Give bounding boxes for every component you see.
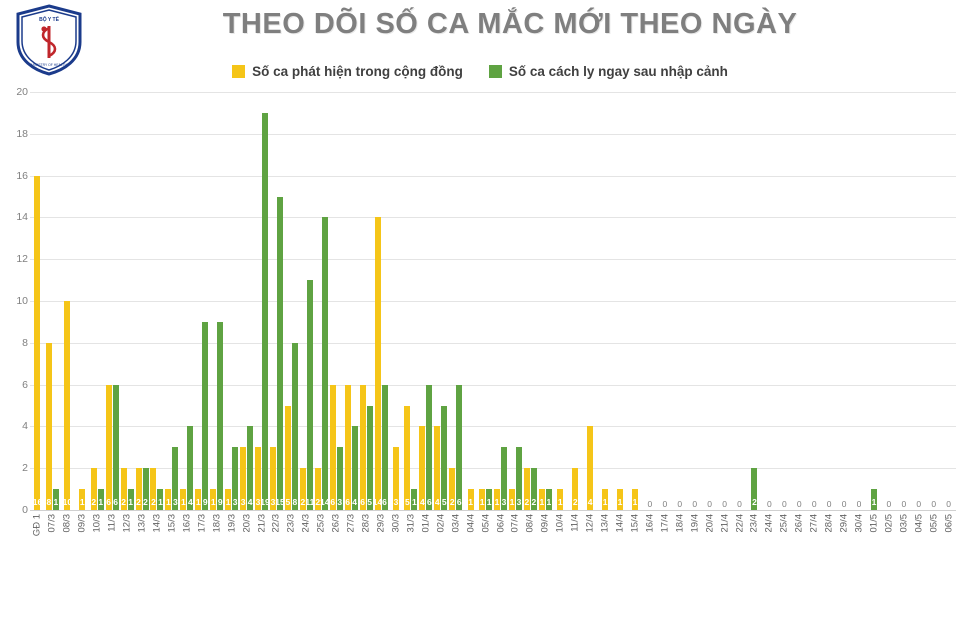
x-tick-wrapper: 12/4 bbox=[583, 512, 598, 632]
bar-group[interactable]: 0 bbox=[941, 92, 956, 510]
bar-community[interactable]: 2 bbox=[449, 468, 455, 510]
x-tick-label: 10/4 bbox=[555, 514, 566, 533]
bar-community[interactable]: 3 bbox=[393, 447, 399, 510]
bar-value-label: 4 bbox=[588, 498, 593, 507]
bar-community[interactable]: 2 bbox=[150, 468, 156, 510]
x-tick-wrapper: 27/3 bbox=[344, 512, 359, 632]
bar-group[interactable]: 0 bbox=[792, 92, 807, 510]
bar-value-label: 9 bbox=[218, 498, 223, 507]
bar-value-label: 2 bbox=[752, 498, 757, 507]
bar-community[interactable]: 2 bbox=[121, 468, 127, 510]
y-tick-label: 14 bbox=[0, 211, 28, 223]
bar-group[interactable]: 13 bbox=[508, 92, 523, 510]
x-tick-label: GĐ 1 bbox=[32, 514, 43, 536]
x-tick-wrapper: 08/3 bbox=[60, 512, 75, 632]
bar-community[interactable]: 14 bbox=[375, 217, 381, 510]
bar-value-label: 0 bbox=[901, 500, 906, 509]
x-tick-label: 11/3 bbox=[107, 514, 118, 532]
bar-community[interactable]: 1 bbox=[494, 489, 500, 510]
x-tick-label: 28/4 bbox=[824, 514, 835, 533]
bar-group[interactable]: 0 bbox=[852, 92, 867, 510]
x-tick-wrapper: 28/3 bbox=[359, 512, 374, 632]
page-title: THEO DÕI SỐ CA MẮC MỚI THEO NGÀY bbox=[120, 8, 900, 41]
bar-group[interactable]: 14 bbox=[179, 92, 194, 510]
bar-value-label: 9 bbox=[203, 498, 208, 507]
x-tick-wrapper: 29/4 bbox=[837, 512, 852, 632]
bar-value-label: 5 bbox=[405, 498, 410, 507]
x-tick-label: 15/3 bbox=[166, 514, 177, 533]
x-tick-label: 28/3 bbox=[361, 514, 372, 533]
bar-group[interactable]: 0 bbox=[822, 92, 837, 510]
x-tick-wrapper: 11/3 bbox=[105, 512, 120, 632]
x-tick-wrapper: 06/5 bbox=[941, 512, 956, 632]
bar-group[interactable]: 0 bbox=[911, 92, 926, 510]
x-tick-wrapper: 01/4 bbox=[418, 512, 433, 632]
chart-bars: 1681101216621222113141919133431931558211… bbox=[30, 92, 956, 510]
bar-group[interactable]: 34 bbox=[239, 92, 254, 510]
bar-group[interactable]: 22 bbox=[135, 92, 150, 510]
legend-label-community: Số ca phát hiện trong cộng đồng bbox=[252, 64, 463, 79]
bar-group[interactable]: 0 bbox=[926, 92, 941, 510]
bar-community[interactable]: 2 bbox=[136, 468, 142, 510]
x-tick-label: 21/3 bbox=[256, 514, 267, 533]
x-tick-label: 14/3 bbox=[151, 514, 162, 533]
bar-quarantine[interactable]: 9 bbox=[202, 322, 208, 510]
x-tick-wrapper: 09/3 bbox=[75, 512, 90, 632]
x-tick-label: 17/4 bbox=[659, 514, 670, 533]
bar-value-label: 2 bbox=[91, 498, 96, 507]
bar-group[interactable]: 0 bbox=[896, 92, 911, 510]
x-tick-label: 30/4 bbox=[854, 514, 865, 533]
bar-value-label: 4 bbox=[188, 498, 193, 507]
x-tick-label: 02/4 bbox=[435, 514, 446, 533]
x-tick-wrapper: 04/5 bbox=[911, 512, 926, 632]
x-tick-label: 20/3 bbox=[241, 514, 252, 533]
x-tick-wrapper: 15/3 bbox=[164, 512, 179, 632]
x-tick-label: 17/3 bbox=[196, 514, 207, 533]
x-tick-label: 06/4 bbox=[495, 514, 506, 533]
y-tick-label: 4 bbox=[0, 420, 28, 432]
x-tick-label: 16/4 bbox=[644, 514, 655, 533]
bar-group[interactable]: 64 bbox=[344, 92, 359, 510]
bar-value-label: 6 bbox=[382, 498, 387, 507]
x-tick-wrapper: 17/3 bbox=[194, 512, 209, 632]
bar-community[interactable]: 1 bbox=[509, 489, 515, 510]
bar-value-label: 3 bbox=[241, 498, 246, 507]
bar-community[interactable]: 1 bbox=[539, 489, 545, 510]
bar-community[interactable]: 6 bbox=[360, 385, 366, 510]
bar-value-label: 0 bbox=[887, 500, 892, 509]
bar-group[interactable]: 66 bbox=[105, 92, 120, 510]
bar-value-label: 1 bbox=[539, 498, 544, 507]
x-tick-wrapper: 22/4 bbox=[732, 512, 747, 632]
bar-community[interactable]: 1 bbox=[165, 489, 171, 510]
bar-community[interactable]: 6 bbox=[345, 385, 351, 510]
x-tick-label: 07/3 bbox=[47, 514, 58, 533]
bar-community[interactable]: 1 bbox=[617, 489, 623, 510]
x-tick-wrapper: 26/3 bbox=[329, 512, 344, 632]
x-tick-label: 22/4 bbox=[734, 514, 745, 533]
bar-group[interactable]: 19 bbox=[194, 92, 209, 510]
x-tick-wrapper: 23/3 bbox=[284, 512, 299, 632]
bar-value-label: 0 bbox=[782, 500, 787, 509]
bar-quarantine[interactable]: 3 bbox=[337, 447, 343, 510]
bar-value-label: 0 bbox=[662, 500, 667, 509]
bar-group[interactable]: 1 bbox=[867, 92, 882, 510]
bar-group[interactable]: 1 bbox=[628, 92, 643, 510]
x-tick-wrapper: 24/3 bbox=[299, 512, 314, 632]
bar-community[interactable]: 1 bbox=[180, 489, 186, 510]
x-tick-label: 08/3 bbox=[62, 514, 73, 533]
bar-group[interactable]: 21 bbox=[150, 92, 165, 510]
y-tick-label: 18 bbox=[0, 128, 28, 140]
x-tick-label: 10/3 bbox=[92, 514, 103, 533]
bar-value-label: 0 bbox=[857, 500, 862, 509]
x-tick-wrapper: 21/3 bbox=[254, 512, 269, 632]
bar-group[interactable]: 46 bbox=[418, 92, 433, 510]
bar-quarantine[interactable]: 1 bbox=[128, 489, 134, 510]
x-tick-wrapper: 16/3 bbox=[179, 512, 194, 632]
bar-value-label: 2 bbox=[121, 498, 126, 507]
bar-community[interactable]: 2 bbox=[572, 468, 578, 510]
x-tick-wrapper: GĐ 1 bbox=[30, 512, 45, 632]
x-tick-wrapper: 20/4 bbox=[702, 512, 717, 632]
x-tick-wrapper: 15/4 bbox=[628, 512, 643, 632]
bar-quarantine[interactable]: 2 bbox=[751, 468, 757, 510]
x-tick-wrapper: 19/3 bbox=[224, 512, 239, 632]
x-tick-wrapper: 05/4 bbox=[478, 512, 493, 632]
page-header: BỘ Y TẾ MINISTRY OF HEALTH THEO DÕI SỐ C… bbox=[0, 0, 960, 60]
bar-value-label: 1 bbox=[618, 498, 623, 507]
bar-quarantine[interactable]: 1 bbox=[546, 489, 552, 510]
bar-group[interactable]: 21 bbox=[90, 92, 105, 510]
bar-value-label: 1 bbox=[633, 498, 638, 507]
bar-value-label: 6 bbox=[345, 498, 350, 507]
legend-item-community: Số ca phát hiện trong cộng đồng bbox=[232, 64, 463, 79]
x-tick-wrapper: 03/4 bbox=[448, 512, 463, 632]
x-tick-label: 12/3 bbox=[122, 514, 133, 533]
bar-group[interactable]: 2 bbox=[568, 92, 583, 510]
bar-value-label: 1 bbox=[211, 498, 216, 507]
x-tick-label: 25/3 bbox=[316, 514, 327, 533]
bar-quarantine[interactable]: 3 bbox=[172, 447, 178, 510]
bar-value-label: 2 bbox=[450, 498, 455, 507]
bar-quarantine[interactable]: 6 bbox=[426, 385, 432, 510]
bar-group[interactable]: 81 bbox=[45, 92, 60, 510]
bar-value-label: 6 bbox=[360, 498, 365, 507]
bar-group[interactable]: 1 bbox=[463, 92, 478, 510]
x-tick-label: 08/4 bbox=[525, 514, 536, 533]
x-tick-wrapper: 18/3 bbox=[209, 512, 224, 632]
x-tick-wrapper: 23/4 bbox=[747, 512, 762, 632]
bar-value-label: 1 bbox=[546, 498, 551, 507]
x-tick-label: 27/3 bbox=[346, 514, 357, 533]
bar-group[interactable]: 21 bbox=[120, 92, 135, 510]
bar-value-label: 16 bbox=[33, 498, 42, 507]
bar-group[interactable]: 0 bbox=[837, 92, 852, 510]
x-tick-wrapper: 26/4 bbox=[792, 512, 807, 632]
bar-value-label: 1 bbox=[98, 498, 103, 507]
svg-text:BỘ Y TẾ: BỘ Y TẾ bbox=[39, 15, 59, 23]
x-tick-label: 07/4 bbox=[510, 514, 521, 533]
bar-community[interactable]: 1 bbox=[557, 489, 563, 510]
bar-value-label: 0 bbox=[812, 500, 817, 509]
bar-group[interactable]: 315 bbox=[269, 92, 284, 510]
bar-group[interactable]: 0 bbox=[702, 92, 717, 510]
bar-quarantine[interactable]: 4 bbox=[247, 426, 253, 510]
x-tick-label: 16/3 bbox=[181, 514, 192, 533]
y-tick-label: 12 bbox=[0, 253, 28, 265]
bar-community[interactable]: 1 bbox=[602, 489, 608, 510]
bar-value-label: 0 bbox=[677, 500, 682, 509]
bar-group[interactable]: 0 bbox=[881, 92, 896, 510]
bar-value-label: 5 bbox=[442, 498, 447, 507]
bar-value-label: 1 bbox=[80, 498, 85, 507]
x-tick-label: 01/5 bbox=[868, 514, 879, 533]
bar-quarantine[interactable]: 1 bbox=[871, 489, 877, 510]
bar-value-label: 2 bbox=[143, 498, 148, 507]
bar-value-label: 4 bbox=[352, 498, 357, 507]
bar-quarantine[interactable]: 6 bbox=[456, 385, 462, 510]
bar-community[interactable]: 1 bbox=[210, 489, 216, 510]
bar-quarantine[interactable]: 8 bbox=[292, 343, 298, 510]
bar-value-label: 0 bbox=[916, 500, 921, 509]
x-tick-label: 12/4 bbox=[585, 514, 596, 533]
bar-quarantine[interactable]: 4 bbox=[187, 426, 193, 510]
x-tick-label: 18/4 bbox=[674, 514, 685, 533]
bar-group[interactable]: 10 bbox=[60, 92, 75, 510]
bar-group[interactable]: 0 bbox=[717, 92, 732, 510]
bar-value-label: 2 bbox=[136, 498, 141, 507]
legend-label-quarantine: Số ca cách ly ngay sau nhập cảnh bbox=[509, 64, 728, 79]
bar-quarantine[interactable]: 6 bbox=[382, 385, 388, 510]
x-tick-label: 23/3 bbox=[286, 514, 297, 533]
bar-value-label: 1 bbox=[468, 498, 473, 507]
bar-group[interactable]: 13 bbox=[164, 92, 179, 510]
bar-quarantine[interactable]: 14 bbox=[322, 217, 328, 510]
bar-group[interactable]: 211 bbox=[299, 92, 314, 510]
bar-group[interactable]: 16 bbox=[30, 92, 45, 510]
bar-community[interactable]: 2 bbox=[91, 468, 97, 510]
bar-value-label: 0 bbox=[737, 500, 742, 509]
bar-value-label: 8 bbox=[293, 498, 298, 507]
bar-quarantine[interactable]: 1 bbox=[98, 489, 104, 510]
bar-community[interactable]: 5 bbox=[285, 406, 291, 511]
x-tick-label: 05/4 bbox=[480, 514, 491, 533]
x-tick-label: 13/4 bbox=[600, 514, 611, 533]
y-tick-label: 20 bbox=[0, 86, 28, 98]
x-tick-label: 27/4 bbox=[809, 514, 820, 533]
bar-group[interactable]: 4 bbox=[583, 92, 598, 510]
x-tick-label: 11/4 bbox=[570, 514, 581, 532]
bar-group[interactable]: 0 bbox=[732, 92, 747, 510]
bar-value-label: 1 bbox=[412, 498, 417, 507]
bar-group[interactable]: 19 bbox=[209, 92, 224, 510]
x-tick-wrapper: 10/4 bbox=[553, 512, 568, 632]
bar-value-label: 3 bbox=[337, 498, 342, 507]
bar-value-label: 4 bbox=[435, 498, 440, 507]
bar-group[interactable]: 214 bbox=[314, 92, 329, 510]
x-tick-label: 23/4 bbox=[749, 514, 760, 533]
bar-value-label: 6 bbox=[106, 498, 111, 507]
bar-group[interactable]: 0 bbox=[657, 92, 672, 510]
bar-community[interactable]: 8 bbox=[46, 343, 52, 510]
bar-value-label: 1 bbox=[495, 498, 500, 507]
bar-quarantine[interactable]: 19 bbox=[262, 113, 268, 510]
x-tick-wrapper: 06/4 bbox=[493, 512, 508, 632]
bar-value-label: 0 bbox=[722, 500, 727, 509]
x-tick-wrapper: 10/3 bbox=[90, 512, 105, 632]
bar-group[interactable]: 319 bbox=[254, 92, 269, 510]
x-tick-label: 29/3 bbox=[376, 514, 387, 533]
x-tick-label: 26/3 bbox=[331, 514, 342, 533]
bar-quarantine[interactable]: 6 bbox=[113, 385, 119, 510]
x-tick-label: 24/3 bbox=[301, 514, 312, 533]
bar-community[interactable]: 6 bbox=[106, 385, 112, 510]
bar-group[interactable]: 1 bbox=[553, 92, 568, 510]
bar-quarantine[interactable]: 4 bbox=[352, 426, 358, 510]
bar-community[interactable]: 1 bbox=[195, 489, 201, 510]
bar-community[interactable]: 6 bbox=[330, 385, 336, 510]
bar-community[interactable]: 1 bbox=[632, 489, 638, 510]
bar-quarantine[interactable]: 11 bbox=[307, 280, 313, 510]
bar-value-label: 3 bbox=[233, 498, 238, 507]
bar-group[interactable]: 0 bbox=[762, 92, 777, 510]
x-tick-wrapper: 25/3 bbox=[314, 512, 329, 632]
bar-community[interactable]: 16 bbox=[34, 176, 40, 510]
bar-group[interactable]: 63 bbox=[329, 92, 344, 510]
y-tick-label: 6 bbox=[0, 379, 28, 391]
bar-group[interactable]: 0 bbox=[672, 92, 687, 510]
bar-value-label: 1 bbox=[196, 498, 201, 507]
bar-community[interactable]: 10 bbox=[64, 301, 70, 510]
bar-group[interactable]: 11 bbox=[538, 92, 553, 510]
bar-group[interactable]: 58 bbox=[284, 92, 299, 510]
bar-group[interactable]: 0 bbox=[642, 92, 657, 510]
bar-quarantine[interactable]: 3 bbox=[232, 447, 238, 510]
bar-group[interactable]: 13 bbox=[493, 92, 508, 510]
bar-quarantine[interactable]: 5 bbox=[367, 406, 373, 511]
bar-value-label: 0 bbox=[946, 500, 951, 509]
x-tick-wrapper: 07/3 bbox=[45, 512, 60, 632]
x-tick-wrapper: 03/5 bbox=[896, 512, 911, 632]
x-tick-wrapper: 30/3 bbox=[389, 512, 404, 632]
bar-value-label: 6 bbox=[113, 498, 118, 507]
bar-group[interactable]: 1 bbox=[75, 92, 90, 510]
x-tick-wrapper: 11/4 bbox=[568, 512, 583, 632]
x-tick-wrapper: 17/4 bbox=[657, 512, 672, 632]
x-tick-wrapper: 24/4 bbox=[762, 512, 777, 632]
x-tick-label: 09/4 bbox=[540, 514, 551, 533]
bar-group[interactable]: 146 bbox=[374, 92, 389, 510]
bar-group[interactable]: 0 bbox=[807, 92, 822, 510]
bar-quarantine[interactable]: 15 bbox=[277, 197, 283, 511]
bar-community[interactable]: 4 bbox=[587, 426, 593, 510]
bar-value-label: 1 bbox=[158, 498, 163, 507]
x-tick-label: 21/4 bbox=[719, 514, 730, 533]
bar-value-label: 4 bbox=[420, 498, 425, 507]
bar-value-label: 5 bbox=[367, 498, 372, 507]
x-tick-label: 19/3 bbox=[226, 514, 237, 533]
bar-quarantine[interactable]: 1 bbox=[53, 489, 59, 510]
bar-value-label: 4 bbox=[248, 498, 253, 507]
x-tick-wrapper: 12/3 bbox=[120, 512, 135, 632]
bar-value-label: 6 bbox=[427, 498, 432, 507]
bar-group[interactable]: 22 bbox=[523, 92, 538, 510]
x-tick-wrapper: 13/4 bbox=[598, 512, 613, 632]
bar-quarantine[interactable]: 9 bbox=[217, 322, 223, 510]
bar-value-label: 0 bbox=[648, 500, 653, 509]
bar-group[interactable]: 45 bbox=[433, 92, 448, 510]
bar-community[interactable]: 1 bbox=[479, 489, 485, 510]
bar-value-label: 0 bbox=[931, 500, 936, 509]
bar-community[interactable]: 2 bbox=[524, 468, 530, 510]
bar-quarantine[interactable]: 2 bbox=[143, 468, 149, 510]
x-tick-wrapper: 02/5 bbox=[881, 512, 896, 632]
x-tick-wrapper: 19/4 bbox=[687, 512, 702, 632]
bar-quarantine[interactable]: 2 bbox=[531, 468, 537, 510]
bar-community[interactable]: 4 bbox=[419, 426, 425, 510]
bar-group[interactable]: 11 bbox=[478, 92, 493, 510]
x-tick-label: 18/3 bbox=[211, 514, 222, 533]
bar-group[interactable]: 65 bbox=[359, 92, 374, 510]
bar-community[interactable]: 3 bbox=[240, 447, 246, 510]
x-tick-wrapper: 01/5 bbox=[867, 512, 882, 632]
bar-quarantine[interactable]: 1 bbox=[411, 489, 417, 510]
bar-group[interactable]: 51 bbox=[403, 92, 418, 510]
bar-community[interactable]: 1 bbox=[225, 489, 231, 510]
bar-value-label: 10 bbox=[63, 498, 72, 507]
bar-quarantine[interactable]: 5 bbox=[441, 406, 447, 511]
bar-quarantine[interactable]: 3 bbox=[501, 447, 507, 510]
bar-community[interactable]: 1 bbox=[468, 489, 474, 510]
x-tick-wrapper: 28/4 bbox=[822, 512, 837, 632]
x-tick-label: 05/5 bbox=[928, 514, 939, 533]
bar-quarantine[interactable]: 1 bbox=[157, 489, 163, 510]
bar-group[interactable]: 1 bbox=[613, 92, 628, 510]
x-axis-ticks: GĐ 107/308/309/310/311/312/313/314/315/3… bbox=[30, 512, 956, 632]
bar-group[interactable]: 3 bbox=[389, 92, 404, 510]
bar-value-label: 0 bbox=[767, 500, 772, 509]
bar-group[interactable]: 0 bbox=[687, 92, 702, 510]
bar-value-label: 5 bbox=[286, 498, 291, 507]
x-tick-wrapper: 07/4 bbox=[508, 512, 523, 632]
bar-community[interactable]: 5 bbox=[404, 406, 410, 511]
bar-value-label: 3 bbox=[173, 498, 178, 507]
x-tick-label: 20/4 bbox=[704, 514, 715, 533]
x-tick-wrapper: 13/3 bbox=[135, 512, 150, 632]
x-tick-label: 25/4 bbox=[779, 514, 790, 533]
x-tick-wrapper: 29/3 bbox=[374, 512, 389, 632]
bar-quarantine[interactable]: 3 bbox=[516, 447, 522, 510]
legend-swatch-community bbox=[232, 65, 245, 78]
x-tick-label: 03/4 bbox=[450, 514, 461, 533]
bar-community[interactable]: 4 bbox=[434, 426, 440, 510]
bar-community[interactable]: 1 bbox=[79, 489, 85, 510]
bar-value-label: 1 bbox=[603, 498, 608, 507]
bar-value-label: 1 bbox=[166, 498, 171, 507]
bar-value-label: 0 bbox=[827, 500, 832, 509]
x-tick-label: 29/4 bbox=[839, 514, 850, 533]
bar-group[interactable]: 2 bbox=[747, 92, 762, 510]
bar-quarantine[interactable]: 1 bbox=[486, 489, 492, 510]
bar-group[interactable]: 0 bbox=[777, 92, 792, 510]
bar-group[interactable]: 1 bbox=[598, 92, 613, 510]
bar-group[interactable]: 13 bbox=[224, 92, 239, 510]
bar-group[interactable]: 26 bbox=[448, 92, 463, 510]
x-tick-wrapper: 09/4 bbox=[538, 512, 553, 632]
bar-value-label: 3 bbox=[517, 498, 522, 507]
